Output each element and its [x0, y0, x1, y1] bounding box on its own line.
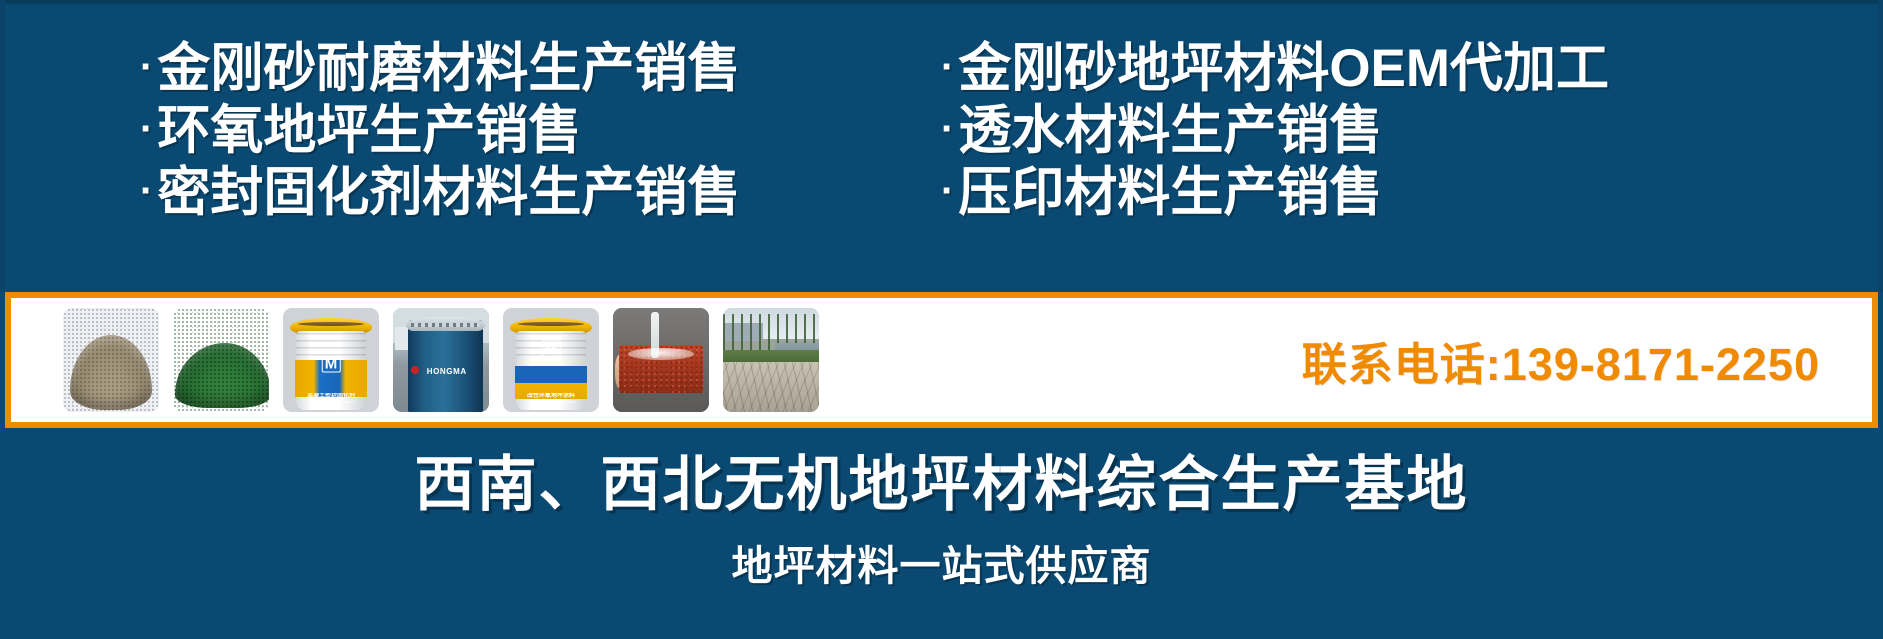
- services-left-column: · 金刚砂耐磨材料生产销售 · 环氧地坪生产销售 · 密封固化剂材料生产销售: [0, 30, 941, 288]
- product-thumb-curing-agent-pail: M 混凝土密封固化剂 Concrete seal curing agent: [283, 308, 379, 412]
- headline-main: 西南、西北无机地坪材料综合生产基地: [0, 436, 1883, 523]
- product-thumb-paved-walkway: [723, 308, 819, 412]
- product-thumb-epoxy-pail: M 改性环氧地坪涂料 Modified epoxy floor coating: [503, 308, 599, 412]
- green-powder-speckle: [173, 308, 269, 412]
- steel-drum-rim: [406, 317, 485, 331]
- service-item-1-label: 金刚砂耐磨材料生产销售: [157, 40, 740, 97]
- product-thumb-green-powder: [173, 308, 269, 412]
- services-right-column: · 金刚砂地坪材料OEM代加工 · 透水材料生产销售 · 压印材料生产销售: [941, 30, 1883, 288]
- bullet-dot-icon: ·: [140, 171, 153, 211]
- service-item-6-label: 压印材料生产销售: [958, 164, 1382, 221]
- pail-shape: M 混凝土密封固化剂 Concrete seal curing agent: [295, 318, 368, 410]
- headline-sub: 地坪材料一站式供应商: [0, 532, 1883, 592]
- pail-label-en: Concrete seal curing agent: [297, 400, 364, 405]
- contact-phone[interactable]: 联系电话:139-8171-2250: [1302, 328, 1820, 393]
- product-thumb-hongma-drum: HONGMA: [393, 308, 489, 412]
- service-item-2-label: 环氧地坪生产销售: [157, 102, 581, 159]
- pail-ribs: [296, 333, 366, 357]
- pail-label-text: 改性环氧地坪涂料 Modified epoxy floor coating: [517, 393, 584, 404]
- service-item-2: · 环氧地坪生产销售: [140, 102, 941, 159]
- product-thumb-permeable-block: [613, 308, 709, 412]
- service-item-3: · 密封固化剂材料生产销售: [140, 164, 941, 221]
- bullet-dot-icon: ·: [140, 109, 153, 149]
- pail-label-text: 混凝土密封固化剂 Concrete seal curing agent: [297, 393, 364, 404]
- hongma-brand-text: HONGMA: [410, 367, 483, 376]
- bullet-dot-icon: ·: [941, 47, 954, 87]
- service-item-3-label: 密封固化剂材料生产销售: [157, 164, 740, 221]
- bullet-dot-icon: ·: [140, 47, 153, 87]
- pail-shape: M 改性环氧地坪涂料 Modified epoxy floor coating: [515, 318, 588, 410]
- product-thumbnail-strip: M 混凝土密封固化剂 Concrete seal curing agent HO…: [63, 308, 819, 412]
- service-item-4: · 金刚砂地坪材料OEM代加工: [941, 40, 1883, 97]
- service-item-5-label: 透水材料生产销售: [958, 102, 1382, 159]
- brand-m-logo-icon: M: [322, 356, 341, 373]
- walkway-paving: [723, 362, 819, 412]
- pail-label-en: Modified epoxy floor coating: [517, 400, 584, 405]
- bullet-dot-icon: ·: [941, 171, 954, 211]
- product-panel: M 混凝土密封固化剂 Concrete seal curing agent HO…: [5, 292, 1878, 428]
- service-item-4-label: 金刚砂地坪材料OEM代加工: [958, 40, 1609, 97]
- top-edge-line: [0, 0, 1883, 4]
- steel-drum-body: [408, 320, 483, 412]
- product-thumb-grey-powder: [63, 308, 159, 412]
- water-pool-on-slab: [628, 348, 693, 360]
- service-item-6: · 压印材料生产销售: [941, 164, 1883, 221]
- services-section: · 金刚砂耐磨材料生产销售 · 环氧地坪生产销售 · 密封固化剂材料生产销售 ·…: [0, 30, 1883, 288]
- service-item-5: · 透水材料生产销售: [941, 102, 1883, 159]
- promo-banner: · 金刚砂耐磨材料生产销售 · 环氧地坪生产销售 · 密封固化剂材料生产销售 ·…: [0, 0, 1883, 639]
- grey-powder-speckle: [63, 308, 159, 412]
- brand-m-logo-icon: M: [542, 339, 561, 356]
- service-item-1: · 金刚砂耐磨材料生产销售: [140, 40, 941, 97]
- bullet-dot-icon: ·: [941, 109, 954, 149]
